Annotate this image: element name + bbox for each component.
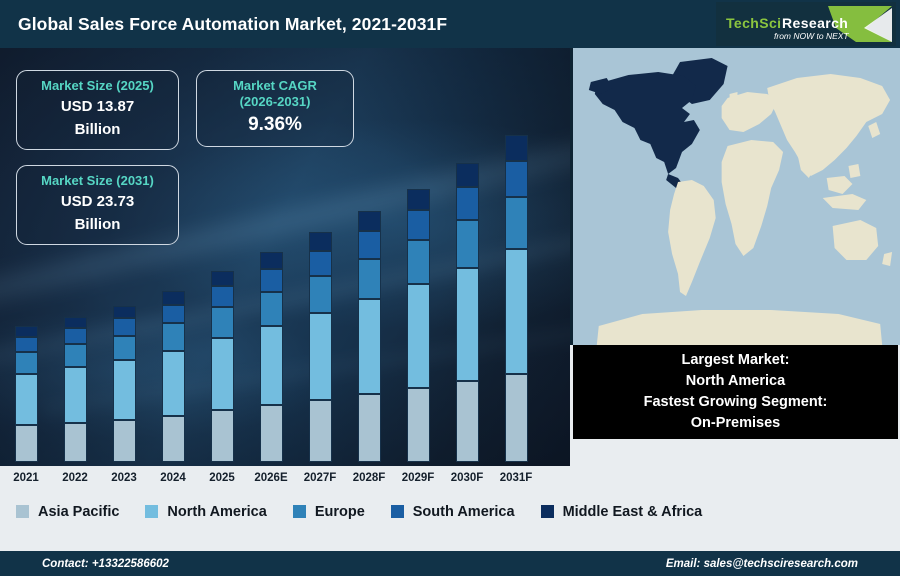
key-insights-callout: Largest Market: North America Fastest Gr… bbox=[573, 345, 898, 439]
bar-segment-south-america bbox=[64, 328, 87, 344]
bar-segment-south-america bbox=[15, 337, 38, 352]
bar-segment-south-america bbox=[113, 318, 136, 335]
legend-label: Europe bbox=[315, 504, 365, 520]
bar-segment-north-america bbox=[505, 249, 528, 373]
bar-segment-europe bbox=[456, 220, 479, 268]
callout-line-fastest-segment-label: Fastest Growing Segment: bbox=[644, 392, 828, 413]
bar-segment-south-america bbox=[162, 305, 185, 324]
bar-segment-north-america bbox=[113, 360, 136, 419]
bar-segment-middle-east-africa bbox=[505, 135, 528, 161]
legend-label: North America bbox=[167, 504, 266, 520]
header-bar: Global Sales Force Automation Market, 20… bbox=[0, 0, 900, 48]
chart-panel: Market Size (2025) USD 13.87 Billion Mar… bbox=[0, 48, 570, 488]
bar-segment-asia-pacific bbox=[15, 425, 38, 462]
bar-segment-north-america bbox=[260, 326, 283, 406]
map-region-antarctica bbox=[597, 310, 882, 345]
legend-label: Middle East & Africa bbox=[563, 504, 703, 520]
x-axis-label-2022: 2022 bbox=[49, 472, 101, 484]
callout-line-fastest-segment-value: On-Premises bbox=[691, 413, 780, 434]
svg-text:from NOW to NEXT: from NOW to NEXT bbox=[774, 31, 849, 41]
bar-segment-north-america bbox=[211, 338, 234, 411]
bar-segment-europe bbox=[309, 276, 332, 313]
legend-label: South America bbox=[413, 504, 515, 520]
x-axis-labels: 202120222023202420252026E2027F2028F2029F… bbox=[0, 466, 570, 488]
bar-segment-asia-pacific bbox=[358, 394, 381, 462]
bar-segment-middle-east-africa bbox=[456, 163, 479, 187]
world-map-panel bbox=[570, 48, 900, 345]
footer-contact: Contact: +13322586602 bbox=[42, 558, 169, 570]
bar-segment-europe bbox=[162, 323, 185, 350]
bar-segment-europe bbox=[64, 344, 87, 367]
bar-segment-europe bbox=[358, 259, 381, 299]
svg-text:TechSci: TechSci bbox=[726, 15, 781, 31]
legend-swatch bbox=[145, 505, 158, 518]
bar-segment-middle-east-africa bbox=[113, 306, 136, 318]
callout-line-largest-market-label: Largest Market: bbox=[682, 350, 790, 371]
bar-segment-asia-pacific bbox=[162, 416, 185, 462]
bar-segment-europe bbox=[505, 197, 528, 249]
bar-segment-south-america bbox=[407, 210, 430, 240]
bar-segment-middle-east-africa bbox=[162, 291, 185, 305]
bar-2026E bbox=[260, 252, 283, 462]
bar-2028F bbox=[358, 211, 381, 462]
bar-segment-europe bbox=[113, 336, 136, 361]
bar-segment-north-america bbox=[64, 367, 87, 422]
callout-line-largest-market-value: North America bbox=[686, 371, 785, 392]
bar-2027F bbox=[309, 232, 332, 462]
bar-segment-middle-east-africa bbox=[211, 271, 234, 286]
x-axis-label-2023: 2023 bbox=[98, 472, 150, 484]
bar-segment-north-america bbox=[358, 299, 381, 394]
bar-segment-north-america bbox=[15, 374, 38, 426]
legend-swatch bbox=[541, 505, 554, 518]
logo-graphic: TechSci Research from NOW to NEXT bbox=[716, 2, 896, 46]
bar-2023 bbox=[113, 306, 136, 462]
bar-segment-middle-east-africa bbox=[64, 317, 87, 329]
bar-2021 bbox=[15, 326, 38, 462]
bar-segment-europe bbox=[211, 307, 234, 338]
legend-item-middle-east-africa[interactable]: Middle East & Africa bbox=[541, 504, 703, 520]
bar-segment-asia-pacific bbox=[456, 381, 479, 462]
bar-segment-middle-east-africa bbox=[260, 252, 283, 269]
x-axis-label-2028F: 2028F bbox=[343, 472, 395, 484]
x-axis-label-2024: 2024 bbox=[147, 472, 199, 484]
x-axis-label-2029F: 2029F bbox=[392, 472, 444, 484]
bar-segment-asia-pacific bbox=[260, 405, 283, 462]
page-title: Global Sales Force Automation Market, 20… bbox=[18, 14, 447, 35]
bar-segment-europe bbox=[15, 352, 38, 374]
bar-segment-south-america bbox=[505, 161, 528, 197]
bar-segment-middle-east-africa bbox=[407, 189, 430, 211]
bar-segment-south-america bbox=[456, 187, 479, 220]
bar-segment-south-america bbox=[211, 286, 234, 307]
legend-item-europe[interactable]: Europe bbox=[293, 504, 365, 520]
bar-2029F bbox=[407, 188, 430, 462]
footer-email: Email: sales@techsciresearch.com bbox=[666, 558, 858, 570]
bar-segment-europe bbox=[407, 240, 430, 284]
bar-segment-south-america bbox=[358, 231, 381, 259]
svg-text:Research: Research bbox=[782, 15, 848, 31]
bar-segment-asia-pacific bbox=[113, 420, 136, 462]
legend-item-south-america[interactable]: South America bbox=[391, 504, 515, 520]
bar-2031F bbox=[505, 135, 528, 462]
x-axis-label-2027F: 2027F bbox=[294, 472, 346, 484]
x-axis-label-2026E: 2026E bbox=[245, 472, 297, 484]
bar-segment-north-america bbox=[407, 284, 430, 388]
bar-2030F bbox=[456, 163, 479, 462]
legend-swatch bbox=[16, 505, 29, 518]
bar-2024 bbox=[162, 291, 185, 462]
legend-item-north-america[interactable]: North America bbox=[145, 504, 266, 520]
x-axis-label-2021: 2021 bbox=[0, 472, 52, 484]
bar-segment-asia-pacific bbox=[309, 400, 332, 462]
bar-2025 bbox=[211, 271, 234, 462]
x-axis-label-2031F: 2031F bbox=[490, 472, 542, 484]
map-region-philippines bbox=[848, 164, 860, 178]
chart-legend: Asia PacificNorth AmericaEuropeSouth Ame… bbox=[0, 488, 900, 535]
bar-segment-europe bbox=[260, 292, 283, 326]
bar-segment-asia-pacific bbox=[211, 410, 234, 462]
bar-segment-asia-pacific bbox=[407, 388, 430, 462]
bar-segment-middle-east-africa bbox=[309, 232, 332, 250]
legend-swatch bbox=[293, 505, 306, 518]
bar-segment-middle-east-africa bbox=[15, 326, 38, 337]
bar-segment-south-america bbox=[260, 269, 283, 292]
bar-segment-north-america bbox=[456, 268, 479, 382]
legend-item-asia-pacific[interactable]: Asia Pacific bbox=[16, 504, 119, 520]
bar-segment-asia-pacific bbox=[64, 423, 87, 462]
bar-segment-north-america bbox=[162, 351, 185, 416]
legend-swatch bbox=[391, 505, 404, 518]
world-map-graphic bbox=[573, 48, 900, 345]
legend-label: Asia Pacific bbox=[38, 504, 119, 520]
bar-2022 bbox=[64, 317, 87, 462]
bar-segment-north-america bbox=[309, 313, 332, 400]
bar-segment-middle-east-africa bbox=[358, 211, 381, 231]
bar-segment-asia-pacific bbox=[505, 374, 528, 462]
techsci-research-logo: TechSci Research from NOW to NEXT bbox=[716, 2, 896, 46]
bar-segment-south-america bbox=[309, 251, 332, 276]
infographic-page: Global Sales Force Automation Market, 20… bbox=[0, 0, 900, 576]
footer-bar: Contact: +13322586602 Email: sales@techs… bbox=[0, 551, 900, 576]
stacked-bar-chart bbox=[0, 48, 570, 488]
x-axis-label-2025: 2025 bbox=[196, 472, 248, 484]
x-axis-label-2030F: 2030F bbox=[441, 472, 493, 484]
